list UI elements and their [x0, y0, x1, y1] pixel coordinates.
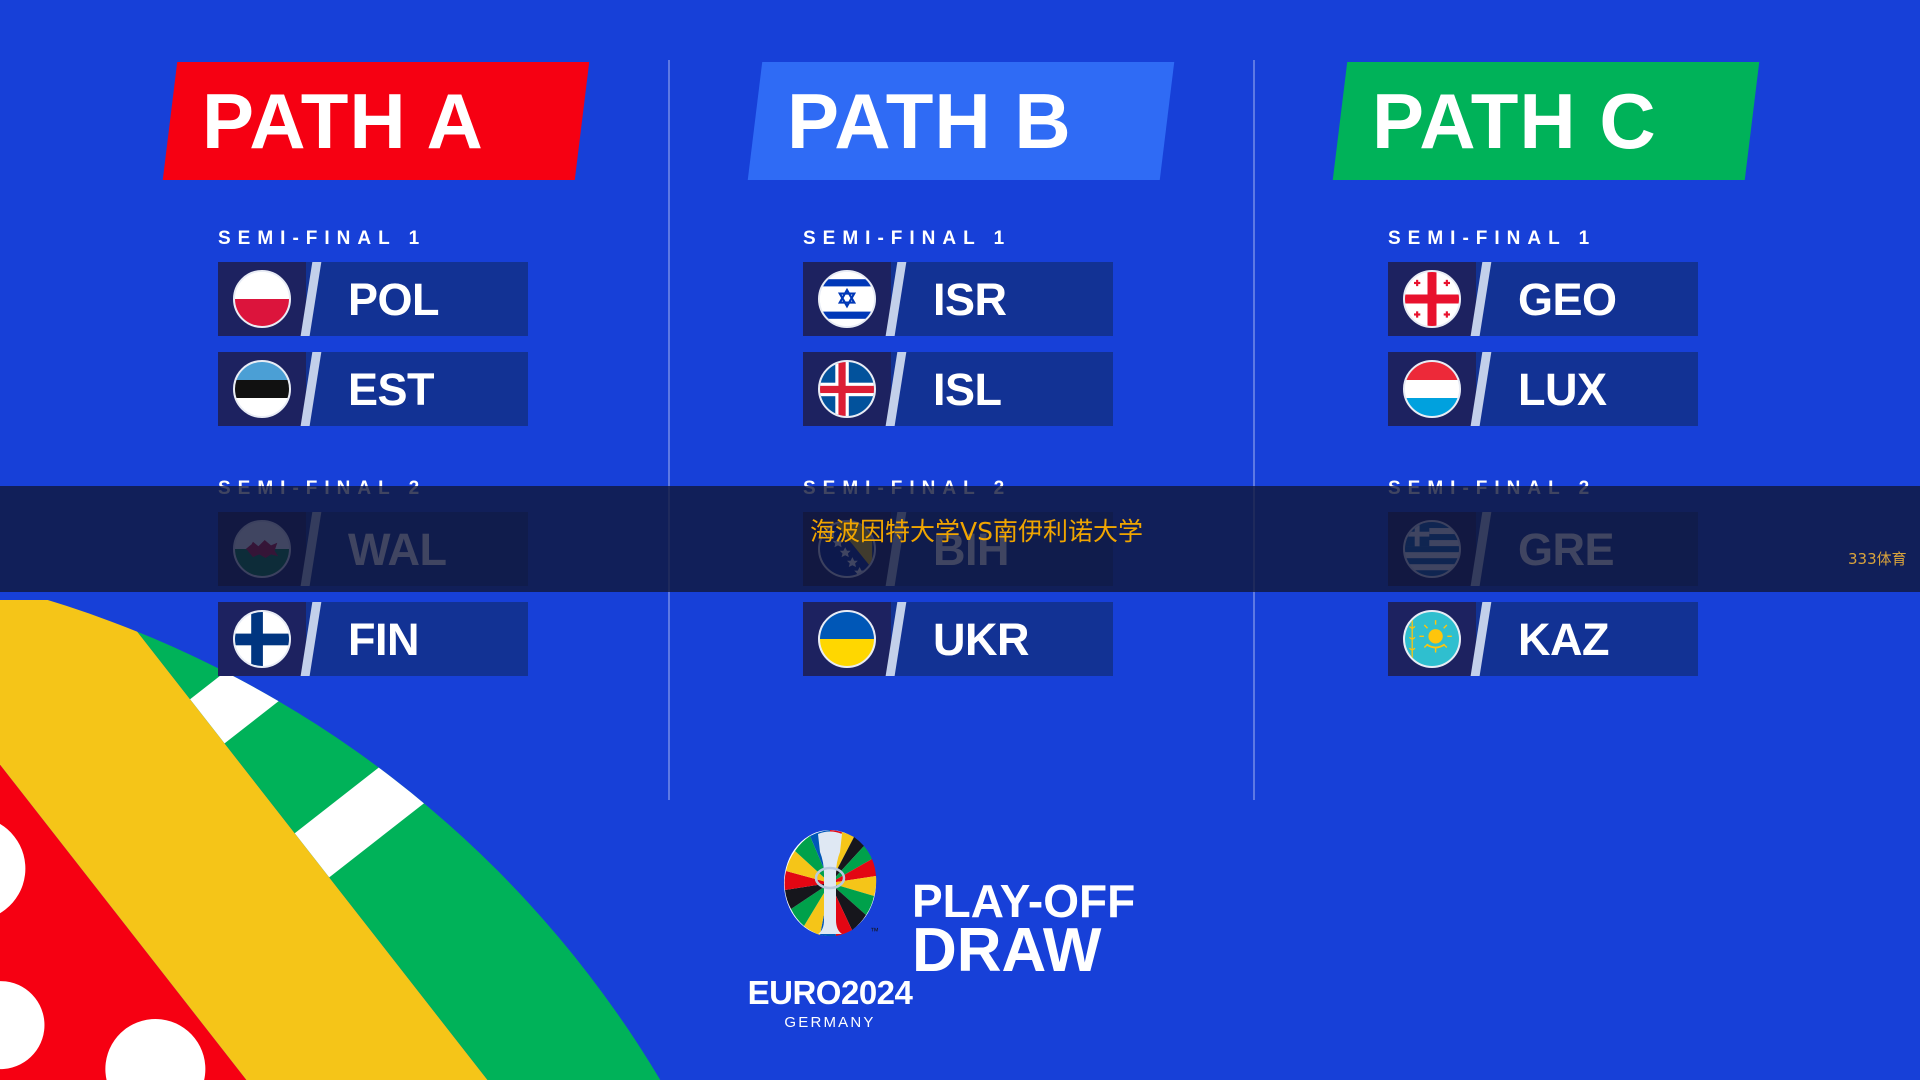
uefa-arc-text: UEFA: [778, 948, 882, 974]
path-a-banner: PATH A: [163, 62, 589, 180]
finland-flag-icon: [233, 610, 291, 668]
svg-text:™: ™: [870, 926, 878, 936]
team-row[interactable]: GEO: [1388, 262, 1698, 336]
luxembourg-flag-icon: [1403, 360, 1461, 418]
flag-badge: [803, 262, 891, 336]
poland-flag-icon: [233, 270, 291, 328]
path-column-b: PATH B SEMI-FINAL 1 ISR: [745, 62, 1175, 692]
team-row[interactable]: ISR: [803, 262, 1113, 336]
path-b-title: PATH B: [787, 82, 1072, 160]
footer-branding: ™ UEFA EURO2024 GERMANY PLAY-OFF DRAW: [770, 828, 1135, 1031]
flag-badge: [1388, 262, 1476, 336]
team-row[interactable]: FIN: [218, 602, 528, 676]
flag-badge: [218, 262, 306, 336]
flag-badge: [803, 352, 891, 426]
team-row[interactable]: EST: [218, 352, 528, 426]
israel-flag-icon: [818, 270, 876, 328]
flag-badge: [1388, 352, 1476, 426]
euro-year-text: EURO2024: [748, 974, 913, 1012]
team-code: EST: [348, 367, 434, 412]
path-column-c: PATH C SEMI-FINAL 1: [1330, 62, 1760, 692]
flag-badge: [218, 602, 306, 676]
euro-2024-playoff-draw-graphic: PATH A SEMI-FINAL 1 POL ES: [0, 0, 1920, 1080]
team-row[interactable]: LUX: [1388, 352, 1698, 426]
team-row[interactable]: UKR: [803, 602, 1113, 676]
title-line-2: DRAW: [912, 922, 1135, 979]
team-code: ISL: [933, 367, 1002, 412]
overlay-match-text: 海波因特大学VS南伊利诺大学: [810, 512, 1143, 548]
trophy-icon: ™: [782, 828, 878, 946]
path-c-banner: PATH C: [1333, 62, 1759, 180]
year-label: 2024: [841, 974, 912, 1012]
euro-label: EURO: [748, 974, 841, 1012]
team-row[interactable]: KAZ: [1388, 602, 1698, 676]
estonia-flag-icon: [233, 360, 291, 418]
overlay-watermark: 333体育: [1848, 548, 1907, 569]
flag-badge: [1388, 602, 1476, 676]
team-code: GEO: [1518, 277, 1617, 322]
kazakhstan-flag-icon: [1403, 610, 1461, 668]
team-code: UKR: [933, 617, 1029, 662]
iceland-flag-icon: [818, 360, 876, 418]
team-code: LUX: [1518, 367, 1607, 412]
path-c-semifinal-1-label: SEMI-FINAL 1: [1388, 228, 1760, 250]
georgia-flag-icon: [1403, 270, 1461, 328]
team-code: KAZ: [1518, 617, 1609, 662]
path-a-semifinal-1-label: SEMI-FINAL 1: [218, 228, 590, 250]
team-code: ISR: [933, 277, 1007, 322]
flag-badge: [218, 352, 306, 426]
flag-badge: [803, 602, 891, 676]
path-a-title: PATH A: [202, 82, 484, 160]
host-country-label: GERMANY: [784, 1014, 875, 1031]
euro-2024-logo: ™ UEFA EURO2024 GERMANY: [770, 828, 890, 1031]
paths-container: PATH A SEMI-FINAL 1 POL ES: [0, 0, 1920, 830]
team-code: POL: [348, 277, 439, 322]
path-b-banner: PATH B: [748, 62, 1174, 180]
team-row[interactable]: ISL: [803, 352, 1113, 426]
path-b-semifinal-1-label: SEMI-FINAL 1: [803, 228, 1175, 250]
playoff-draw-title: PLAY-OFF DRAW: [912, 880, 1135, 979]
ukraine-flag-icon: [818, 610, 876, 668]
team-row[interactable]: POL: [218, 262, 528, 336]
path-c-title: PATH C: [1372, 82, 1657, 160]
team-code: FIN: [348, 617, 419, 662]
path-column-a: PATH A SEMI-FINAL 1 POL ES: [160, 62, 590, 692]
